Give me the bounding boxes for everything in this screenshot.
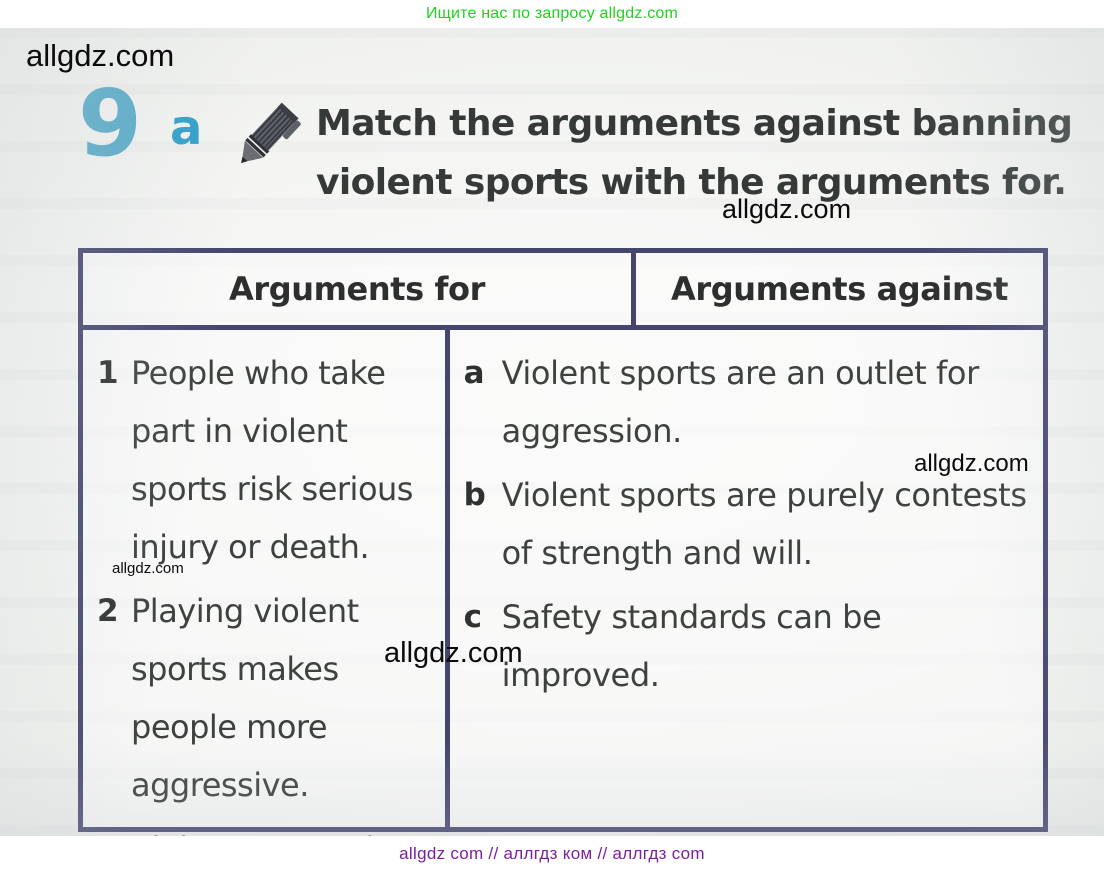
promo-banner: Ищите нас по запросу allgdz.com: [0, 0, 1104, 28]
arguments-for-cell: 1 People who take part in violent sports…: [83, 330, 450, 827]
scanned-page: 9 a: [0, 28, 1104, 836]
arguments-against-cell: a Violent sports are an outlet for aggre…: [450, 330, 1043, 827]
promo-banner-text: Ищите нас по запросу allgdz.com: [426, 5, 678, 23]
list-item-text: Playing violent sports makes people more…: [131, 582, 435, 814]
exercise-letter: a: [170, 104, 202, 152]
arguments-table: Arguments for Arguments against 1 People…: [78, 248, 1048, 832]
pencil-icon: [226, 100, 310, 170]
footer-text: allgdz com // аллгдз ком // аллгдз com: [399, 844, 705, 864]
table-header-arguments-against: Arguments against: [636, 253, 1043, 325]
list-item-marker: 3: [97, 820, 131, 836]
list-item-text: Violent sports are an outlet for aggress…: [502, 344, 1033, 460]
list-item[interactable]: 3 Violent sports do not uphold moral sta…: [97, 820, 435, 836]
exercise-title: Match the arguments against banning viol…: [316, 94, 1104, 212]
list-item-text: Safety standards can be improved.: [502, 588, 1033, 704]
exercise-heading: 9 a: [78, 82, 1068, 212]
watermark: allgdz.com: [384, 637, 523, 670]
list-item-marker: 2: [97, 582, 131, 640]
exercise-number: 9: [78, 78, 142, 170]
watermark: allgdz.com: [112, 560, 184, 577]
list-item[interactable]: 1 People who take part in violent sports…: [97, 344, 435, 576]
list-item-text: People who take part in violent sports r…: [131, 344, 435, 576]
list-item[interactable]: 2 Playing violent sports makes people mo…: [97, 582, 435, 814]
list-item[interactable]: a Violent sports are an outlet for aggre…: [464, 344, 1033, 460]
list-item-marker: b: [464, 466, 502, 524]
watermark: allgdz.com: [914, 450, 1029, 478]
list-item-text: Violent sports are purely contests of st…: [502, 466, 1033, 582]
table-body-row: 1 People who take part in violent sports…: [83, 330, 1043, 827]
table-header-row: Arguments for Arguments against: [83, 253, 1043, 330]
list-item-text: Violent sports do not uphold moral stand…: [131, 820, 435, 836]
list-item[interactable]: c Safety standards can be improved.: [464, 588, 1033, 704]
table-header-arguments-for: Arguments for: [83, 253, 636, 325]
list-item-marker: a: [464, 344, 502, 402]
watermark: allgdz.com: [722, 194, 851, 225]
list-item[interactable]: b Violent sports are purely contests of …: [464, 466, 1033, 582]
footer-bar: allgdz com // аллгдз ком // аллгдз com: [0, 836, 1104, 871]
list-item-marker: 1: [97, 344, 131, 402]
watermark: allgdz.com: [26, 38, 174, 74]
